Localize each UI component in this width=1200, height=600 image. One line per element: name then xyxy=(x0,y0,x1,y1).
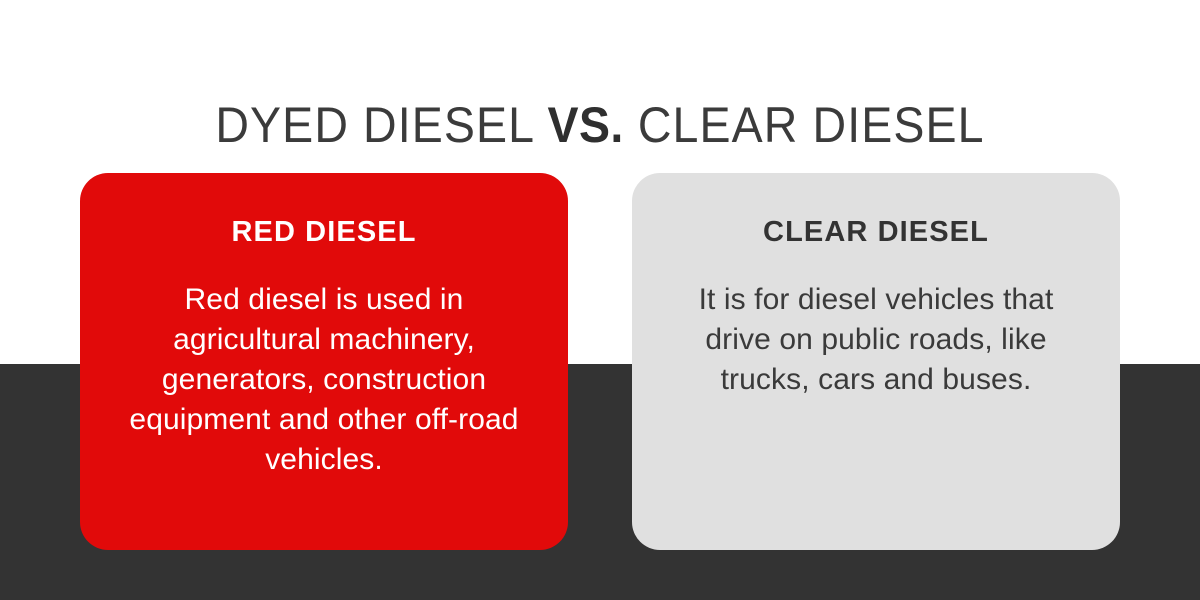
page-title: DYED DIESEL VS. CLEAR DIESEL xyxy=(42,96,1158,154)
card-body-clear-diesel: It is for diesel vehicles that drive on … xyxy=(658,280,1094,400)
card-heading-clear-diesel: CLEAR DIESEL xyxy=(658,215,1094,249)
page-title-part-one: DYED DIESEL xyxy=(215,97,547,153)
card-body-red-diesel: Red diesel is used in agricultural machi… xyxy=(106,280,542,480)
comparison-card-red-diesel: RED DIESEL Red diesel is used in agricul… xyxy=(80,173,568,550)
page-title-emphasis: VS. xyxy=(547,97,623,153)
comparison-card-clear-diesel: CLEAR DIESEL It is for diesel vehicles t… xyxy=(632,173,1120,550)
page-title-part-two: CLEAR DIESEL xyxy=(624,97,985,153)
infographic-canvas: DYED DIESEL VS. CLEAR DIESEL RED DIESEL … xyxy=(0,0,1200,600)
card-heading-red-diesel: RED DIESEL xyxy=(106,215,542,249)
